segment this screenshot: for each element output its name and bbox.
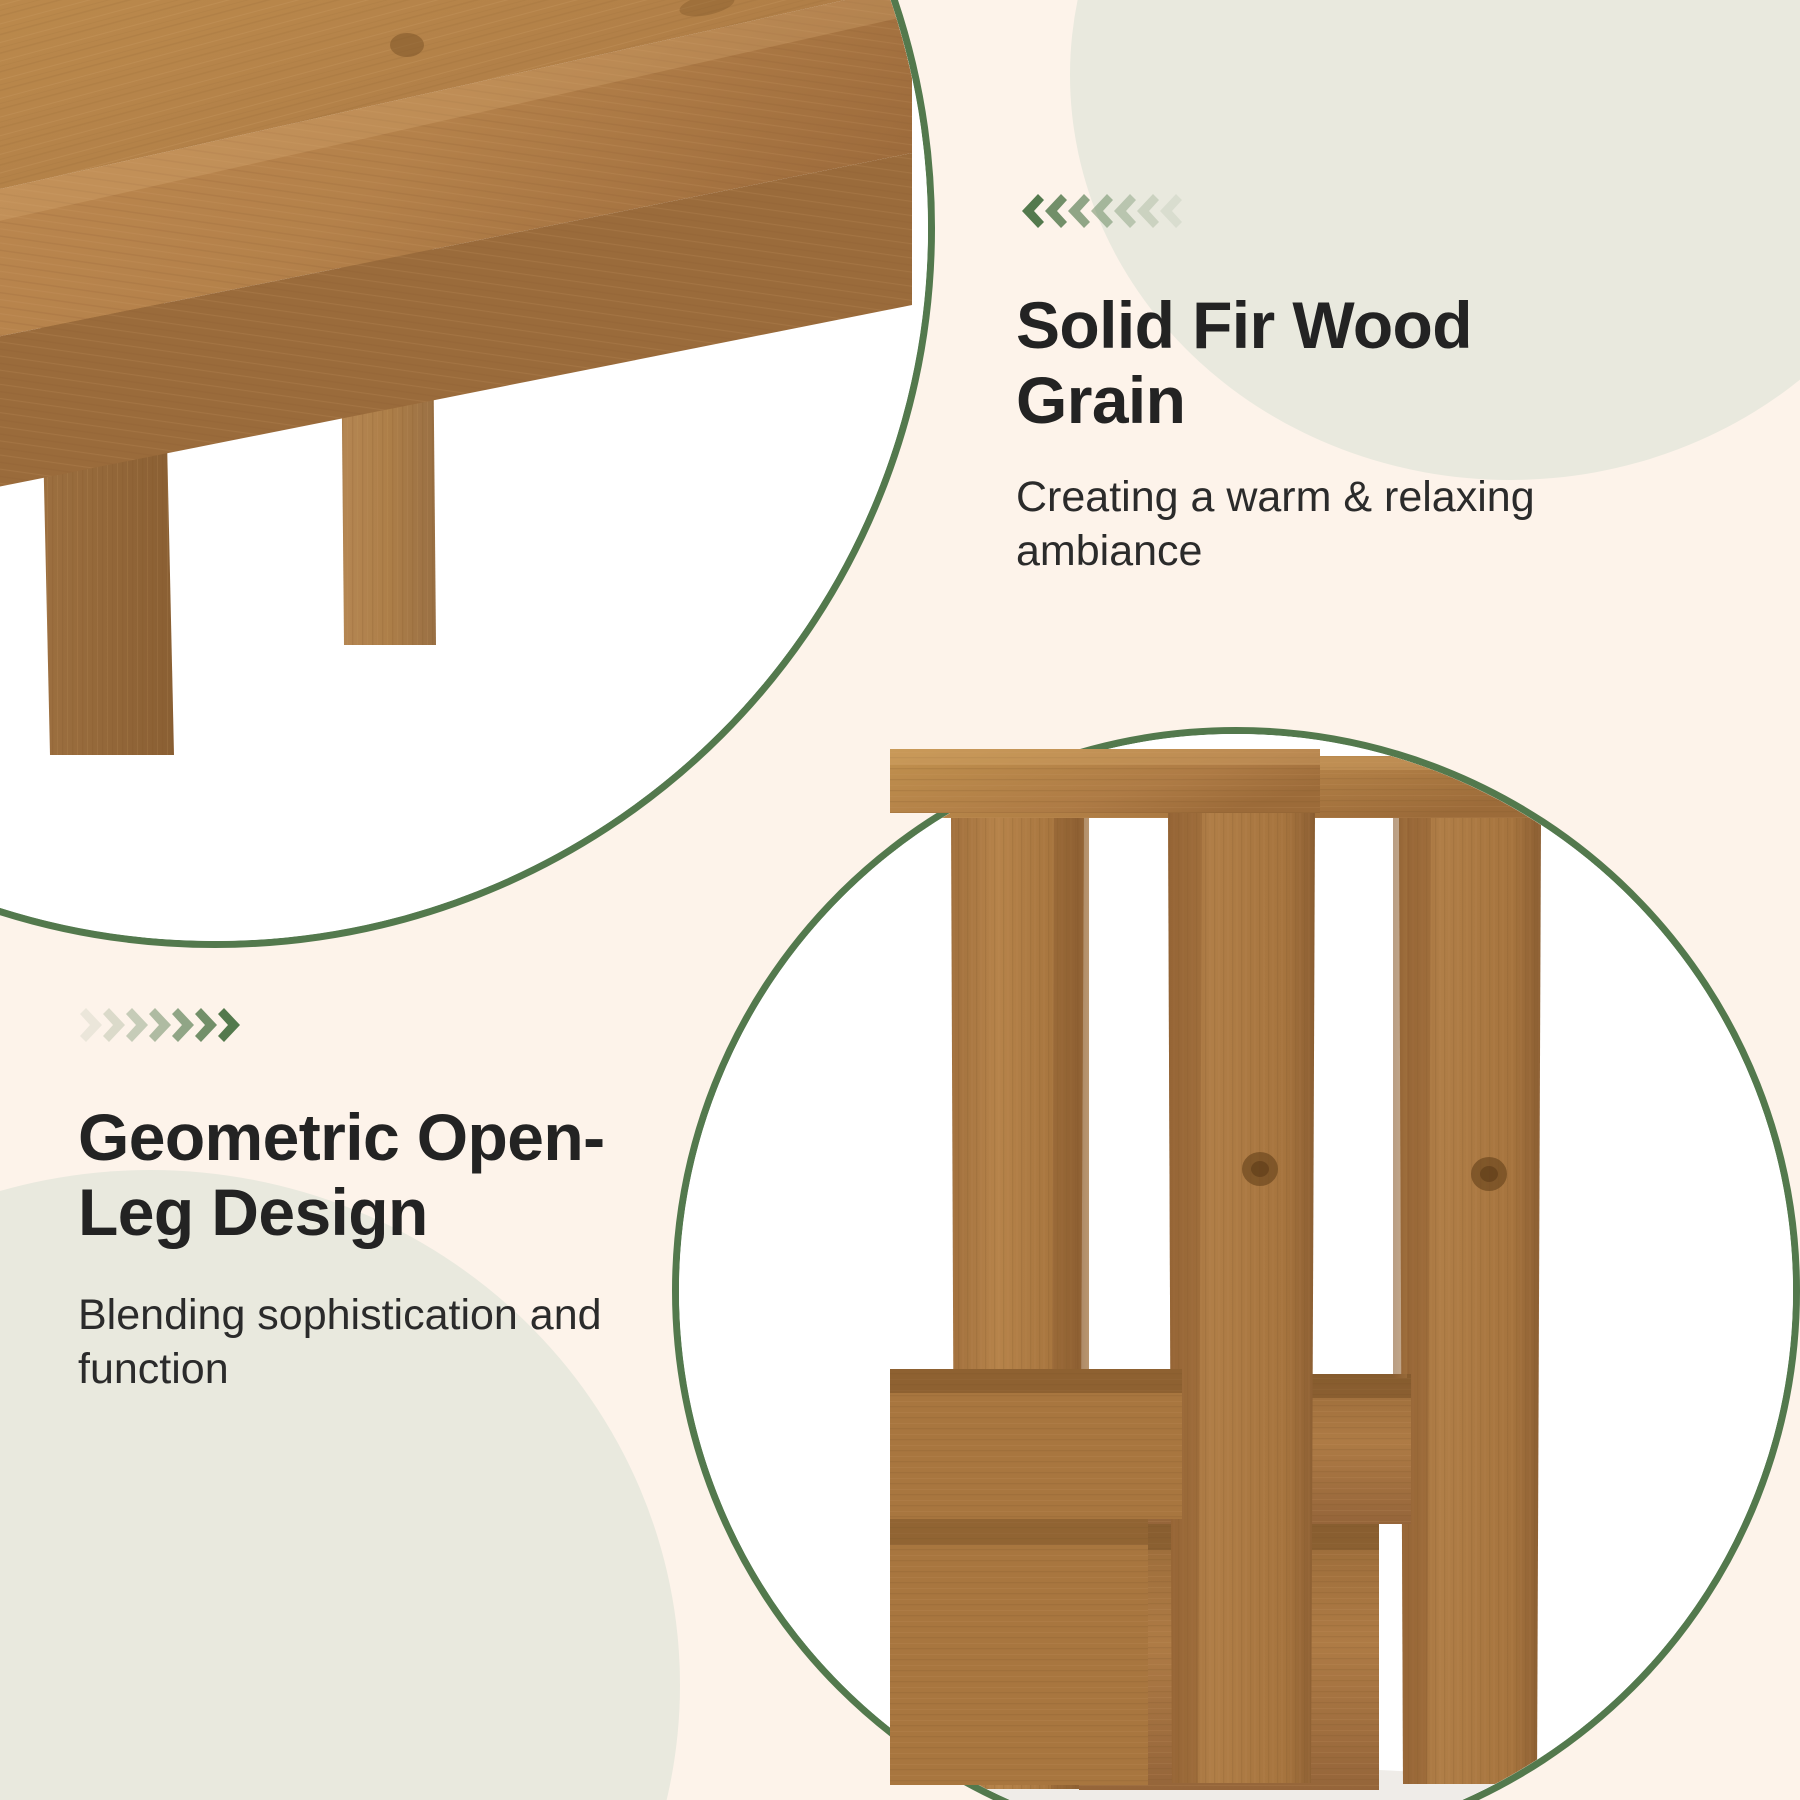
wood-table-corner-photo xyxy=(0,0,928,941)
leg-top-cap xyxy=(941,756,1559,818)
leg-cross-block-upper xyxy=(1084,1374,1411,1524)
feature-subtitle: Blending sophistication and function xyxy=(78,1288,698,1396)
leg-post-left xyxy=(951,818,1084,1789)
chevrons-left-icon xyxy=(1016,192,1177,230)
feature-subtitle: Creating a warm & relaxing ambiance xyxy=(1016,470,1576,578)
leg-post-right xyxy=(1399,818,1541,1784)
wood-table-corner-illustration xyxy=(0,0,928,941)
leg-cross-block-lower xyxy=(1079,1524,1379,1790)
infographic-canvas: Solid Fir Wood Grain Creating a warm & r… xyxy=(0,0,1800,1800)
chevron-left-icon xyxy=(1154,192,1184,230)
chevron-right-icon xyxy=(216,1006,246,1044)
feature-title: Geometric Open-Leg Design xyxy=(78,1100,698,1250)
photo-circle-top-left xyxy=(0,0,935,948)
photo-circle-bottom-right xyxy=(672,727,1800,1800)
wood-table-leg-photo xyxy=(679,734,1793,1800)
feature-solid-fir-wood-grain: Solid Fir Wood Grain Creating a warm & r… xyxy=(1016,288,1576,578)
wood-table-leg-illustration xyxy=(679,734,1793,1800)
feature-geometric-open-leg-design: Geometric Open-Leg Design Blending sophi… xyxy=(78,1100,698,1396)
chevrons-right-icon xyxy=(78,1006,239,1044)
feature-title: Solid Fir Wood Grain xyxy=(1016,288,1576,438)
